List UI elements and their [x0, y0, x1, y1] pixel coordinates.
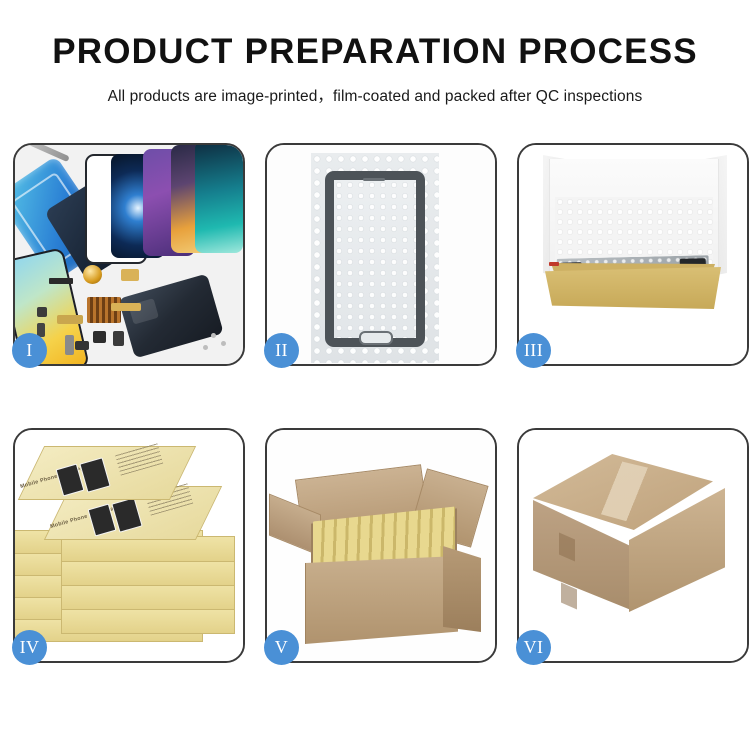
disassembled-phone-back-icon	[118, 274, 224, 359]
process-panel-1: I	[13, 143, 245, 366]
camera-module-part-icon	[93, 331, 106, 343]
panel-4-image: Mobile Phone Spare Parts Mobile Phone Sp…	[15, 430, 243, 661]
panel-badge-1: I	[12, 333, 47, 368]
process-panel-6: VI	[517, 428, 749, 663]
page-subtitle: All products are image-printed，film-coat…	[0, 84, 750, 106]
process-panel-5: V	[265, 428, 497, 663]
panel-badge-4: IV	[12, 630, 47, 665]
carton-front-face-icon	[305, 556, 458, 644]
process-panel-3: III	[517, 143, 749, 366]
home-button-icon	[359, 331, 393, 345]
stacked-box-right-2	[61, 584, 235, 610]
screw-icon	[211, 333, 216, 338]
panel-2-image	[267, 145, 495, 364]
phone-screen-frame-icon	[325, 171, 425, 347]
speaker-coil-part-icon	[83, 265, 102, 284]
stacked-box-right-1	[61, 608, 235, 634]
kraft-box-front-icon	[545, 267, 721, 309]
panel-5-image	[267, 430, 495, 661]
boxed-screen-image	[519, 145, 747, 364]
process-panel-grid: I II III	[13, 143, 737, 663]
sealed-carton-image	[519, 430, 747, 661]
process-panel-2: II	[265, 143, 497, 366]
panel-badge-6: VI	[516, 630, 551, 665]
earpiece-part-icon	[49, 278, 73, 284]
open-carton-image	[267, 430, 495, 661]
panel-3-image	[519, 145, 747, 364]
chip-part-icon	[37, 307, 47, 317]
earpiece-slot-icon	[363, 178, 385, 181]
tweezers-tool-icon	[16, 145, 70, 162]
flex-cable-part-icon	[121, 269, 139, 281]
flex-cable-small-part-icon	[57, 315, 83, 324]
teal-screen-icon	[195, 145, 243, 253]
page-header: PRODUCT PREPARATION PROCESS All products…	[0, 0, 750, 106]
panel-badge-5: V	[264, 630, 299, 665]
flex-cable-long-part-icon	[111, 303, 141, 311]
red-label-mark-icon	[549, 262, 559, 266]
panel-6-image	[519, 430, 747, 661]
page-title: PRODUCT PREPARATION PROCESS	[0, 34, 750, 69]
bubble-wrapped-screen-image	[267, 145, 495, 364]
chip-part-3-icon	[75, 341, 89, 350]
carton-side-face-icon	[443, 546, 481, 632]
stacked-boxes-image: Mobile Phone Spare Parts Mobile Phone Sp…	[15, 430, 243, 661]
process-panel-4: Mobile Phone Spare Parts Mobile Phone Sp…	[13, 428, 245, 663]
sim-tray-part-icon	[65, 335, 74, 355]
panel-badge-2: II	[264, 333, 299, 368]
battery-part-icon	[113, 331, 124, 346]
screw-icon	[221, 341, 226, 346]
stacked-box-right-3	[61, 560, 235, 586]
panel-badge-3: III	[516, 333, 551, 368]
panel-1-image	[15, 145, 243, 364]
screw-icon	[203, 345, 208, 350]
phone-parts-collage-image	[15, 145, 243, 364]
